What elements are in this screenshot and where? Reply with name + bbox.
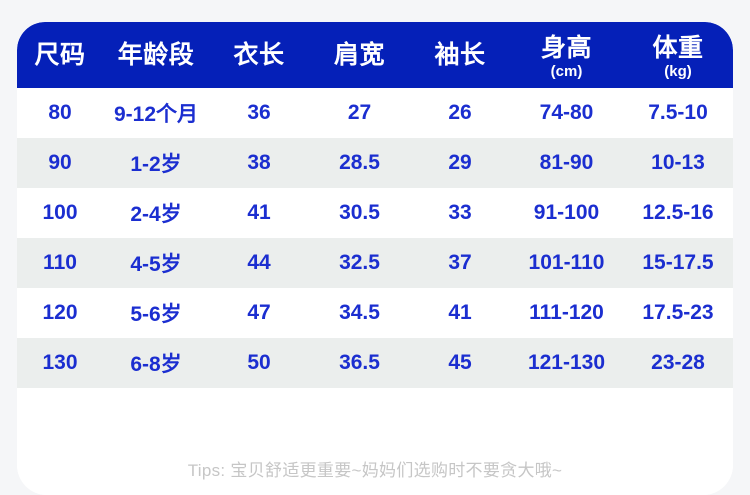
cell-height: 91-100	[510, 188, 623, 238]
cell-length: 36	[209, 88, 309, 138]
cell-shoulder: 28.5	[309, 138, 410, 188]
cell-size: 80	[17, 88, 103, 138]
cell-age: 2-4岁	[103, 188, 209, 238]
cell-sleeve: 37	[410, 238, 510, 288]
cell-weight: 15-17.5	[623, 238, 733, 288]
table-row: 110 4-5岁 44 32.5 37 101-110 15-17.5	[17, 238, 733, 288]
cell-shoulder: 32.5	[309, 238, 410, 288]
table-row: 100 2-4岁 41 30.5 33 91-100 12.5-16	[17, 188, 733, 238]
column-header-length: 衣长	[209, 22, 309, 88]
cell-sleeve: 26	[410, 88, 510, 138]
column-header-age: 年龄段	[103, 22, 209, 88]
cell-shoulder: 30.5	[309, 188, 410, 238]
cell-sleeve: 45	[410, 338, 510, 388]
cell-length: 47	[209, 288, 309, 338]
table-row: 130 6-8岁 50 36.5 45 121-130 23-28	[17, 338, 733, 388]
cell-weight: 10-13	[623, 138, 733, 188]
column-header-length-label: 衣长	[233, 43, 284, 68]
cell-weight: 23-28	[623, 338, 733, 388]
cell-height: 81-90	[510, 138, 623, 188]
table-header-row: 尺码 年龄段 衣长 肩宽 袖长 身高 (cm) 体重 (kg)	[17, 22, 733, 88]
table-row: 120 5-6岁 47 34.5 41 111-120 17.5-23	[17, 288, 733, 338]
cell-size: 110	[17, 238, 103, 288]
column-header-size-label: 尺码	[34, 43, 85, 68]
column-header-height: 身高 (cm)	[510, 22, 623, 90]
column-header-shoulder: 肩宽	[309, 22, 410, 88]
size-chart-table: 尺码 年龄段 衣长 肩宽 袖长 身高 (cm) 体重 (kg) 80 9-12个…	[17, 22, 733, 495]
cell-height: 121-130	[510, 338, 623, 388]
cell-size: 120	[17, 288, 103, 338]
cell-size: 90	[17, 138, 103, 188]
cell-weight: 7.5-10	[623, 88, 733, 138]
column-header-shoulder-label: 肩宽	[334, 43, 385, 68]
cell-shoulder: 27	[309, 88, 410, 138]
cell-weight: 17.5-23	[623, 288, 733, 338]
cell-length: 38	[209, 138, 309, 188]
column-header-sleeve: 袖长	[410, 22, 510, 88]
chart-footer: Tips: 宝贝舒适更重要~妈妈们选购时不要贪大哦~	[17, 442, 733, 495]
cell-size: 100	[17, 188, 103, 238]
cell-age: 4-5岁	[103, 238, 209, 288]
column-header-weight-unit: (kg)	[664, 64, 692, 79]
column-header-sleeve-label: 袖长	[434, 43, 485, 68]
column-header-size: 尺码	[17, 22, 103, 88]
column-header-height-unit: (cm)	[551, 64, 583, 79]
cell-sleeve: 29	[410, 138, 510, 188]
cell-length: 41	[209, 188, 309, 238]
cell-size: 130	[17, 338, 103, 388]
tips-text: Tips: 宝贝舒适更重要~妈妈们选购时不要贪大哦~	[188, 456, 563, 481]
cell-age: 9-12个月	[103, 88, 209, 138]
cell-shoulder: 34.5	[309, 288, 410, 338]
table-row: 80 9-12个月 36 27 26 74-80 7.5-10	[17, 88, 733, 138]
table-row: 90 1-2岁 38 28.5 29 81-90 10-13	[17, 138, 733, 188]
column-header-height-label: 身高	[541, 36, 592, 61]
cell-length: 50	[209, 338, 309, 388]
cell-age: 5-6岁	[103, 288, 209, 338]
cell-weight: 12.5-16	[623, 188, 733, 238]
cell-height: 111-120	[510, 288, 623, 338]
column-header-weight: 体重 (kg)	[623, 22, 733, 90]
cell-sleeve: 41	[410, 288, 510, 338]
cell-length: 44	[209, 238, 309, 288]
column-header-age-label: 年龄段	[118, 43, 195, 68]
column-header-weight-label: 体重	[652, 36, 703, 61]
cell-age: 6-8岁	[103, 338, 209, 388]
cell-shoulder: 36.5	[309, 338, 410, 388]
cell-height: 74-80	[510, 88, 623, 138]
cell-sleeve: 33	[410, 188, 510, 238]
table-body: 80 9-12个月 36 27 26 74-80 7.5-10 90 1-2岁 …	[17, 88, 733, 388]
cell-age: 1-2岁	[103, 138, 209, 188]
cell-height: 101-110	[510, 238, 623, 288]
